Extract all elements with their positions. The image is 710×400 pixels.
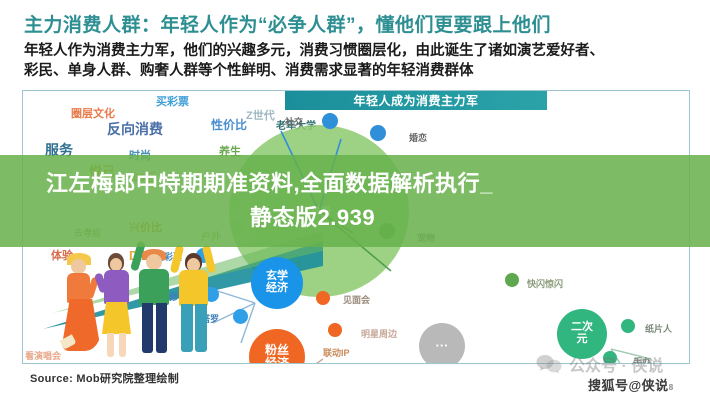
wechat-watermark-label: 公众号 · 侠说	[569, 352, 663, 376]
overlay-line-2: 静态版2.939	[0, 201, 710, 235]
sohu-watermark-suffix: 8	[669, 383, 674, 392]
leaf-paper-person[interactable]	[621, 319, 635, 333]
leaf-label-star-merch: 明星周边	[361, 327, 397, 340]
overlay-line-1: 江左梅郎中特期期准资料,全面数据解析执行_	[0, 167, 710, 201]
screenshot-root: 主力消费人群：年轻人作为“必争人群”，懂他们更要跟上他们 年轻人作为消费主力军，…	[0, 0, 710, 400]
page-title: 主力消费人群：年轻人作为“必争人群”，懂他们更要跟上他们	[24, 10, 551, 37]
subtitle-line-2: 彩民、单身人群、购奢人群等个性鲜明、消费需求显著的年轻消费群体	[24, 61, 694, 81]
leaf-label-marriage: 婚恋	[409, 131, 427, 144]
leaf-tarot[interactable]	[233, 309, 248, 324]
overlay-text: 江左梅郎中特期期准资料,全面数据解析执行_ 静态版2.939	[0, 155, 710, 247]
subtitle: 年轻人作为消费主力军，他们的兴趣多元，消费习惯圈层化，由此诞生了诸如演艺爱好者、…	[24, 41, 694, 81]
leaf-popup-store[interactable]	[505, 273, 519, 287]
node-ellipsis[interactable]: ···	[419, 323, 465, 364]
leaf-meetup[interactable]	[316, 291, 330, 305]
leaf-label-concert: 看演唱会	[25, 349, 61, 362]
wechat-icon	[536, 354, 562, 374]
leaf-label-meetup: 见面会	[343, 293, 370, 306]
source-note: Source: Mob研究院整理绘制	[30, 370, 179, 386]
leaf-label-ip-collab: 联动IP	[323, 346, 350, 359]
leaf-social[interactable]	[322, 113, 338, 129]
leaf-star-merch[interactable]	[328, 323, 342, 337]
leaf-label-popup-store: 快闪惊闪	[527, 277, 563, 290]
sohu-watermark-label: 搜狐号@侠说	[588, 378, 669, 393]
wechat-watermark: 公众号 · 侠说	[536, 352, 663, 376]
subtitle-line-1: 年轻人作为消费主力军，他们的兴趣多元，消费习惯圈层化，由此诞生了诸如演艺爱好者、	[24, 41, 694, 61]
leaf-label-social: 社交	[285, 115, 303, 128]
leaf-marriage[interactable]	[370, 125, 386, 141]
leaf-label-paper-person: 纸片人	[645, 322, 672, 335]
sohu-watermark: 搜狐号@侠说8	[588, 375, 674, 394]
